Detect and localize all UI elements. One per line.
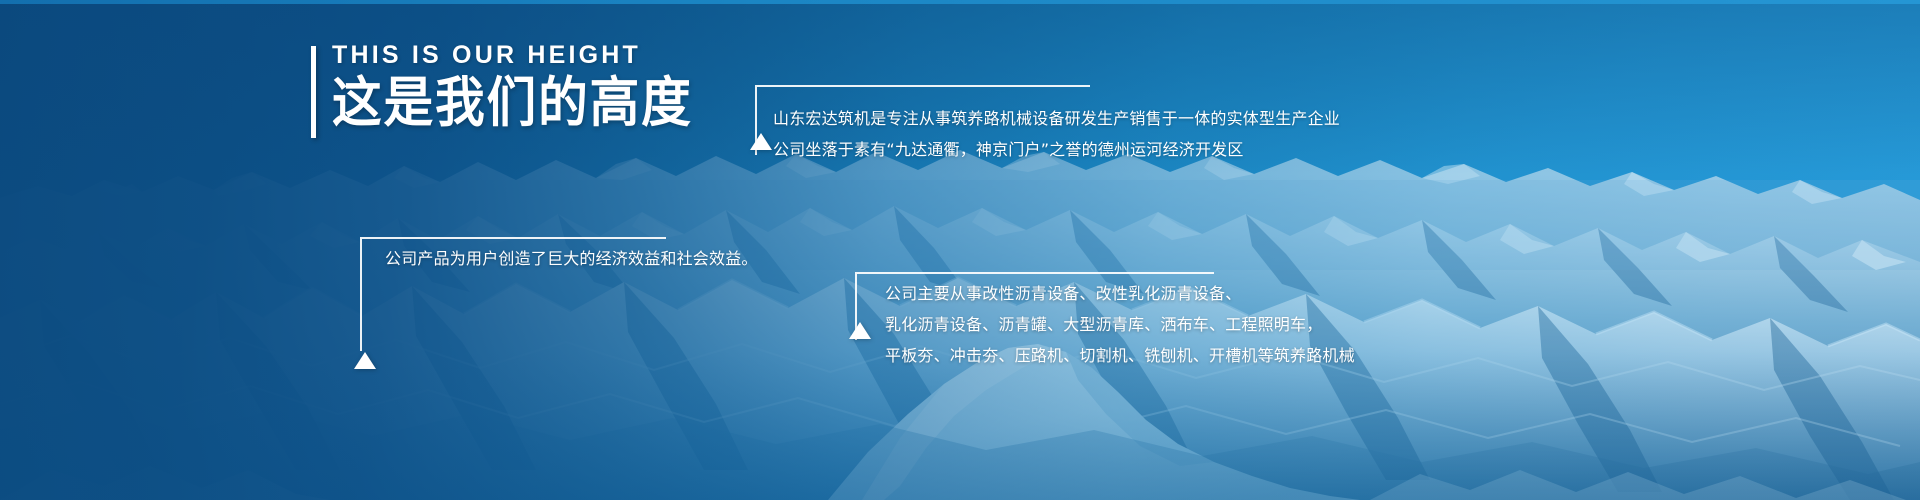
- triangle-marker-icon: [354, 352, 376, 369]
- callout-text-group: 公司产品为用户创造了巨大的经济效益和社会效益。: [385, 243, 758, 274]
- callout-text-group: 公司主要从事改性沥青设备、改性乳化沥青设备、 乳化沥青设备、沥青罐、大型沥青库、…: [885, 278, 1355, 371]
- triangle-marker-icon: [750, 133, 772, 150]
- callout-text-group: 山东宏达筑机是专注从事筑养路机械设备研发生产销售于一体的实体型生产企业 公司坐落…: [773, 103, 1340, 165]
- headline-english: THIS IS OUR HEIGHT: [332, 40, 724, 70]
- headline-block: THIS IS OUR HEIGHT 这是我们的高度: [311, 40, 724, 134]
- callout-products: 公司主要从事改性沥青设备、改性乳化沥青设备、 乳化沥青设备、沥青罐、大型沥青库、…: [855, 272, 1495, 402]
- callout-line: 公司坐落于素有“九达通衢，神京门户”之誉的德州运河经济开发区: [773, 134, 1340, 165]
- callout-line: 山东宏达筑机是专注从事筑养路机械设备研发生产销售于一体的实体型生产企业: [773, 103, 1340, 134]
- callout-company-intro: 山东宏达筑机是专注从事筑养路机械设备研发生产销售于一体的实体型生产企业 公司坐落…: [755, 85, 1315, 165]
- hero-banner: THIS IS OUR HEIGHT 这是我们的高度 山东宏达筑机是专注从事筑养…: [0, 0, 1920, 500]
- top-accent-strip: [0, 0, 1920, 4]
- callout-line: 平板夯、冲击夯、压路机、切割机、铣刨机、开槽机等筑养路机械: [885, 340, 1355, 371]
- callout-benefit: 公司产品为用户创造了巨大的经济效益和社会效益。: [360, 237, 760, 372]
- callout-line: 乳化沥青设备、沥青罐、大型沥青库、洒布车、工程照明车，: [885, 309, 1355, 340]
- callout-line: 公司产品为用户创造了巨大的经济效益和社会效益。: [385, 243, 758, 274]
- callout-line: 公司主要从事改性沥青设备、改性乳化沥青设备、: [885, 278, 1355, 309]
- triangle-marker-icon: [849, 322, 871, 339]
- headline-accent-bar: [311, 46, 316, 138]
- background-vertical-shade: [0, 0, 1920, 500]
- headline-chinese: 这是我们的高度: [332, 72, 693, 134]
